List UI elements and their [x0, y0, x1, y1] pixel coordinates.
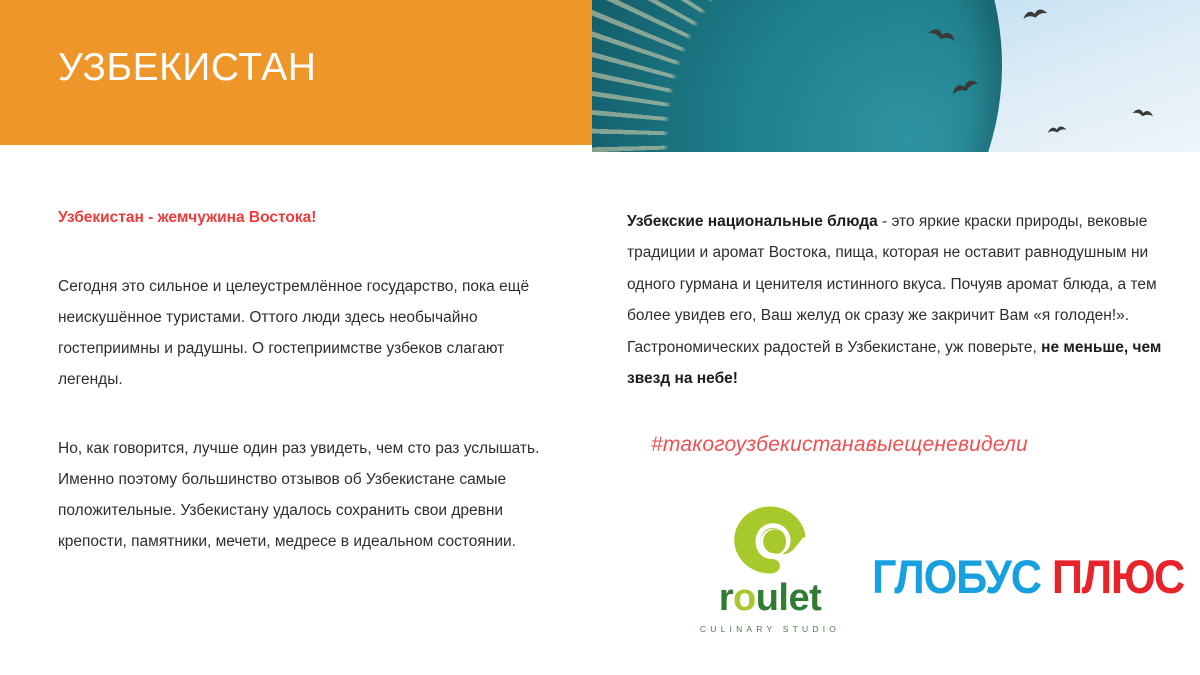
roulet-word-ulet: ulet — [756, 577, 822, 619]
hashtag: #такогоузбекистанавыещеневидели — [651, 433, 1172, 457]
roulet-word-o: o — [733, 577, 756, 619]
roulet-logo: roulet CULINARY STUDIO — [675, 505, 865, 634]
roulet-wordmark: roulet — [675, 579, 865, 617]
globus-word-blue: ГЛОБУС — [872, 550, 1041, 603]
roulet-swirl-icon — [730, 505, 810, 575]
page-title: УЗБЕКИСТАН — [58, 45, 316, 92]
right-paragraph-body: - это яркие краски природы, вековые трад… — [627, 213, 1157, 356]
left-paragraph-1: Сегодня это сильное и целеустремлённое г… — [58, 271, 568, 395]
right-text-column: Узбекские национальные блюда - это яркие… — [627, 206, 1172, 457]
globus-plus-logo: ГЛОБУС ПЛЮС — [872, 553, 1184, 600]
left-paragraph-2: Но, как говорится, лучше один раз увидет… — [58, 433, 568, 557]
slide-header: УЗБЕКИСТАН — [0, 0, 1200, 152]
globus-space — [1041, 550, 1052, 603]
roulet-word-r: r — [719, 577, 733, 619]
left-lead-headline: Узбекистан - жемчужина Востока! — [58, 206, 568, 229]
left-text-column: Узбекистан - жемчужина Востока! Сегодня … — [58, 206, 568, 557]
right-paragraph: Узбекские национальные блюда - это яркие… — [627, 206, 1172, 395]
header-photo — [592, 0, 1200, 152]
roulet-tagline: CULINARY STUDIO — [675, 624, 865, 634]
logo-row: roulet CULINARY STUDIO ГЛОБУС ПЛЮС — [627, 505, 1172, 645]
globus-word-red: ПЛЮС — [1052, 550, 1184, 603]
right-paragraph-bold-lead: Узбекские национальные блюда — [627, 213, 878, 230]
